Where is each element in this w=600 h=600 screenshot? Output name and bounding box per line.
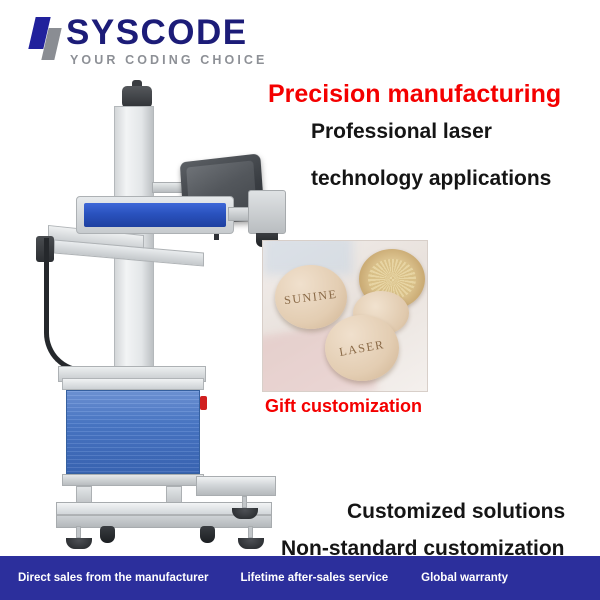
base-rail-rear bbox=[196, 476, 276, 496]
brand-tagline: YOUR CODING CHOICE bbox=[70, 53, 267, 67]
cabinet-bottom-panel bbox=[62, 474, 204, 486]
inset-caption: Gift customization bbox=[265, 396, 422, 417]
leveling-foot-rear-right bbox=[232, 508, 258, 519]
control-cabinet bbox=[66, 390, 200, 474]
leveling-foot-front-left bbox=[66, 538, 92, 549]
engraved-wooden-lid-sunine: SUNINE bbox=[275, 265, 347, 329]
foot-stem-front-right bbox=[238, 526, 264, 549]
emergency-stop-button bbox=[200, 396, 207, 410]
footer-item-direct-sales: Direct sales from the manufacturer bbox=[18, 572, 208, 584]
cabinet-top-panel bbox=[62, 378, 204, 390]
syscode-logo-mark-icon bbox=[30, 17, 64, 61]
engraved-wooden-lid-laser: LASER bbox=[325, 315, 399, 381]
product-poster: SYSCODE YOUR CODING CHOICE bbox=[0, 0, 600, 600]
foot-stem-front-left bbox=[66, 526, 92, 549]
engraving-text-laser: LASER bbox=[338, 337, 386, 360]
brand-logo[interactable]: SYSCODE YOUR CODING CHOICE bbox=[30, 14, 290, 72]
footer-item-global-warranty: Global warranty bbox=[421, 572, 508, 584]
brand-wordmark: SYSCODE bbox=[66, 14, 248, 52]
galvo-scanner-head bbox=[248, 190, 286, 234]
column-adjust-knob bbox=[122, 86, 152, 108]
foot-stem-rear-right bbox=[232, 496, 258, 519]
headline-professional-laser: Professional laser bbox=[311, 120, 492, 144]
gift-customization-photo: SUNINE LASER bbox=[262, 240, 428, 392]
caster-wheel-right bbox=[200, 526, 215, 543]
footer-item-after-sales-service: Lifetime after-sales service bbox=[240, 572, 388, 584]
leveling-foot-front-right bbox=[238, 538, 264, 549]
caster-wheel-left bbox=[100, 526, 115, 543]
headline-primary: Precision manufacturing bbox=[268, 80, 561, 109]
engraving-text-sunine: SUNINE bbox=[283, 286, 338, 307]
power-cable bbox=[44, 238, 95, 373]
headline-technology-applications: technology applications bbox=[311, 167, 551, 191]
headline-customized-solutions: Customized solutions bbox=[347, 500, 565, 524]
laser-marking-machine-image bbox=[18, 78, 293, 548]
footer-banner: Direct sales from the manufacturer Lifet… bbox=[0, 556, 600, 600]
laser-head-blue-panel bbox=[84, 203, 226, 227]
